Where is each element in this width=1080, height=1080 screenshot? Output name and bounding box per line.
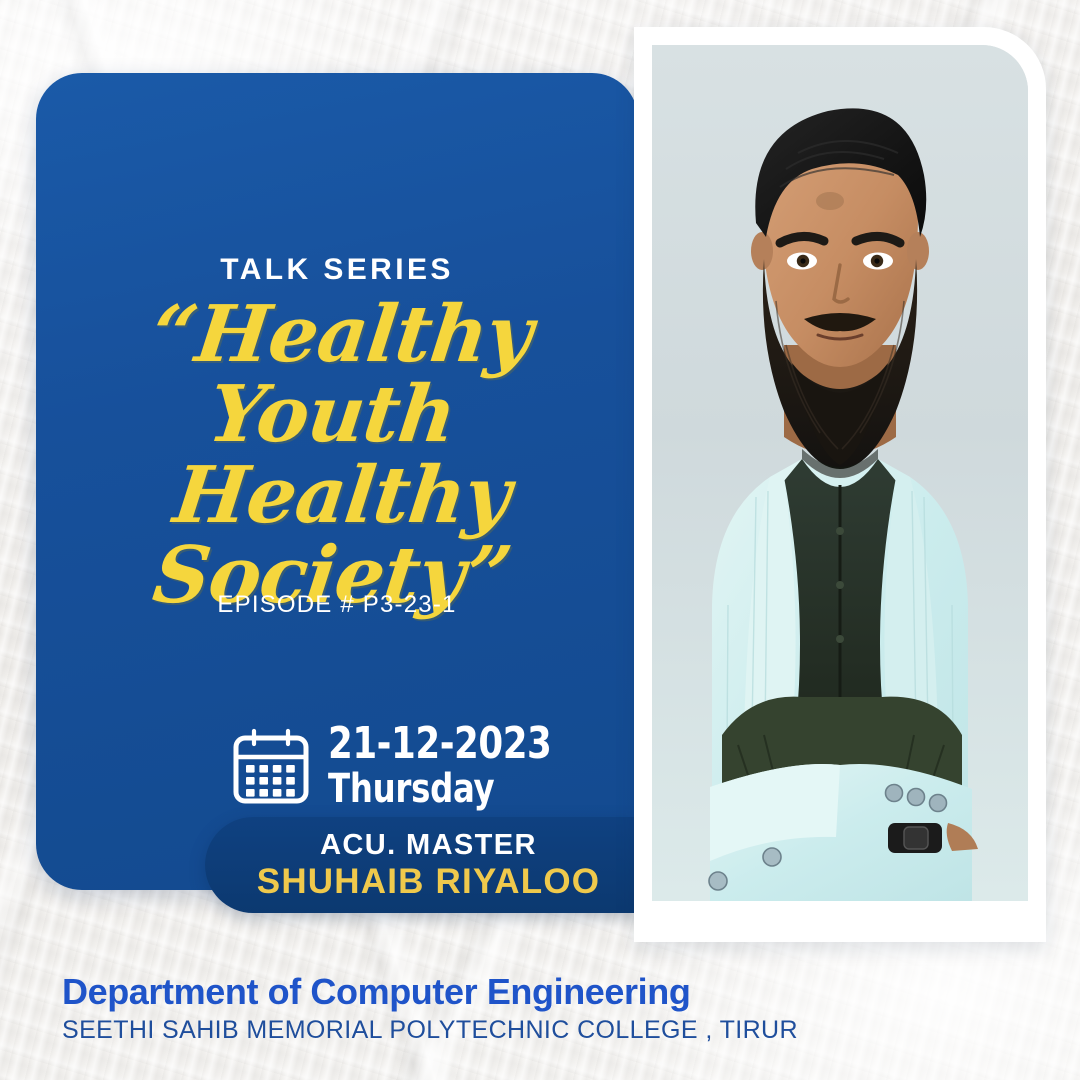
title-block: “Healthy Youth Healthy Society” [36, 295, 638, 615]
footer: Department of Computer Engineering SEETH… [62, 972, 798, 1045]
speaker-role: ACU. MASTER [320, 829, 537, 861]
poster-canvas: TALK SERIES “Healthy Youth Healthy Socie… [0, 0, 1080, 1080]
talk-series-label: TALK SERIES [36, 253, 638, 287]
event-date-row: 21-12-2023 Thursday [232, 721, 576, 810]
event-date-day: Thursday [328, 768, 551, 810]
episode-label: EPISODE # P3-23-1 [36, 591, 638, 619]
speaker-name: SHUHAIB RIYALOO [257, 862, 600, 901]
speaker-banner: ACU. MASTER SHUHAIB RIYALOO [205, 817, 638, 913]
college-name: SEETHI SAHIB MEMORIAL POLYTECHNIC COLLEG… [62, 1015, 798, 1045]
event-date-value: 21-12-2023 [328, 721, 551, 768]
speaker-photo-frame [634, 27, 1046, 942]
speaker-portrait-illustration [652, 45, 1028, 901]
speaker-photo [652, 45, 1028, 901]
title-line-1: “Healthy Youth [26, 295, 648, 454]
blue-content-card: TALK SERIES “Healthy Youth Healthy Socie… [36, 73, 638, 890]
department-title: Department of Computer Engineering [62, 972, 798, 1012]
calendar-icon [232, 727, 310, 805]
event-date-text: 21-12-2023 Thursday [328, 721, 576, 810]
